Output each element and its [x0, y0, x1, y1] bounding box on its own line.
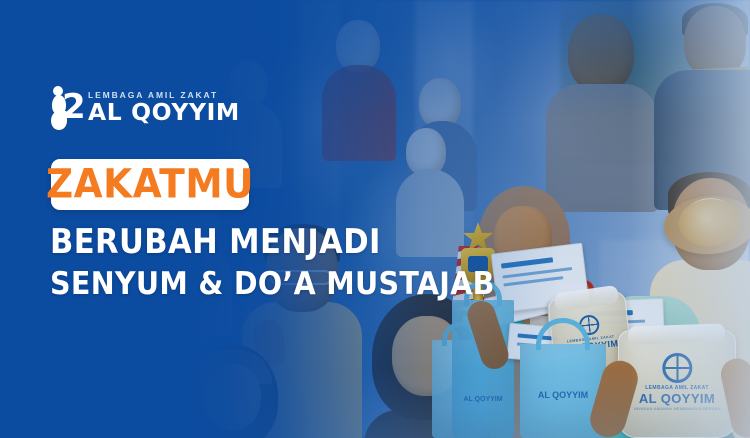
headline: BERUBAH MENJADI SENYUM & DO’A MUSTAJAB: [50, 225, 486, 296]
zakat-promo-banner: AL QOYYIM LEMBAGA AMIL ZAKAT AL QOYYIM: [0, 0, 750, 438]
zakatmu-chip: ZAKATMU: [51, 159, 249, 210]
headline-line-2: SENYUM & DO’A MUSTAJAB: [50, 267, 495, 300]
brand-name: AL QOYYIM: [88, 102, 240, 125]
zakatmu-label: ZAKATMU: [46, 164, 254, 204]
brand-logo: 2 LEMBAGA AMIL ZAKAT AL QOYYIM: [50, 86, 237, 130]
banner-content: 2 LEMBAGA AMIL ZAKAT AL QOYYIM ZAKATMU B…: [0, 0, 750, 438]
logo-numeral: 2: [62, 90, 86, 124]
brand-tagline: LEMBAGA AMIL ZAKAT: [88, 91, 237, 100]
headline-line-1: BERUBAH MENJADI: [50, 225, 495, 261]
al-qoyyim-logo-icon: 2: [50, 86, 80, 130]
brand-logo-text: LEMBAGA AMIL ZAKAT AL QOYYIM: [88, 91, 237, 126]
